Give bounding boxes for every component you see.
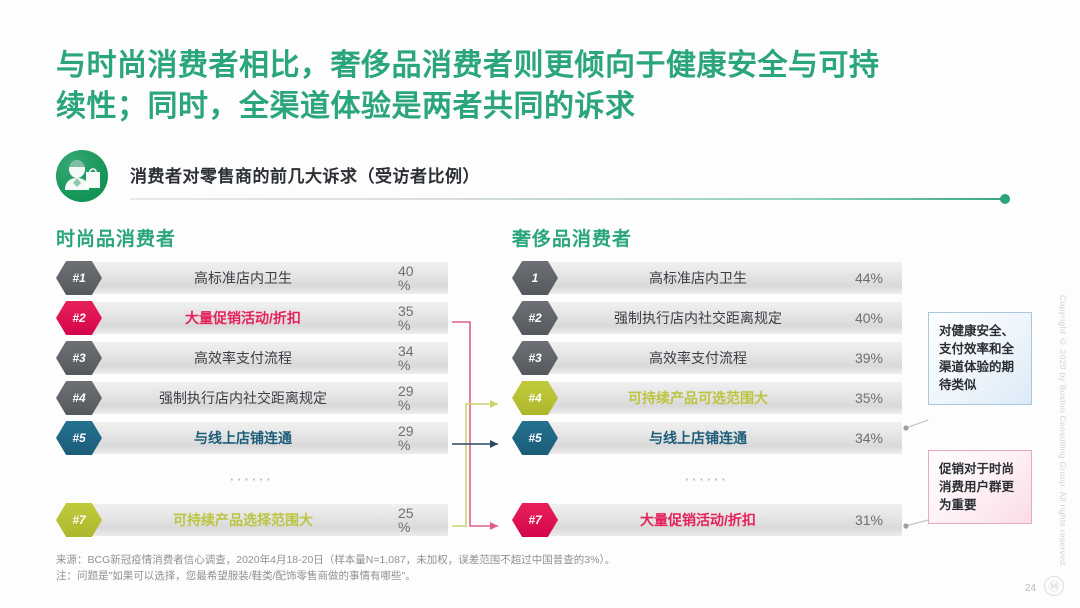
item-label: 与线上店铺连通 xyxy=(102,422,384,454)
column-heading-luxury: 奢侈品消费者 xyxy=(512,224,632,251)
item-label: 高标准店内卫生 xyxy=(102,262,384,294)
item-value: 35 % xyxy=(386,302,444,334)
list-item[interactable]: #7 大量促销活动/折扣 31% xyxy=(512,504,902,536)
item-label: 可持续产品可选范围大 xyxy=(558,382,838,414)
spacer xyxy=(56,496,448,504)
value-unit: % xyxy=(398,278,410,292)
ellipsis: ······ xyxy=(56,462,448,496)
rank-label: #4 xyxy=(512,381,558,415)
item-value: 40 % xyxy=(386,262,444,294)
ellipsis: ······ xyxy=(512,462,902,496)
list-item[interactable]: #2 大量促销活动/折扣 35 % xyxy=(56,302,448,334)
fashion-consumer-list: #1 高标准店内卫生 40 % #2 大量促销活动/折扣 35 % #3 高效率… xyxy=(56,262,448,544)
item-label: 大量促销活动/折扣 xyxy=(558,504,838,536)
rank-label: #7 xyxy=(56,503,102,537)
item-value: 35% xyxy=(840,382,898,414)
page-number: 24 xyxy=(1025,583,1036,594)
subtitle-divider xyxy=(130,198,1002,200)
rank-label: #4 xyxy=(56,381,102,415)
list-item[interactable]: #7 可持续产品选择范围大 25 % xyxy=(56,504,448,536)
footnotes: 来源：BCG新冠疫情消费者信心调查，2020年4月18-20日（样本量N=1,0… xyxy=(56,552,796,585)
value-unit: % xyxy=(398,318,410,332)
rank-label: #5 xyxy=(56,421,102,455)
list-item[interactable]: #4 强制执行店内社交距离规定 29 % xyxy=(56,382,448,414)
item-value: 34% xyxy=(840,422,898,454)
promotion-importance-callout: 促销对于时尚消费用户群更为重要 xyxy=(928,450,1032,524)
column-heading-fashion: 时尚品消费者 xyxy=(56,224,176,251)
item-label: 与线上店铺连通 xyxy=(558,422,838,454)
value-number: 34 xyxy=(398,344,414,358)
value-number: 29 xyxy=(398,384,414,398)
page-title-line-1: 与时尚消费者相比，奢侈品消费者则更倾向于健康安全与可持 xyxy=(56,49,880,82)
value-unit: % xyxy=(398,520,410,534)
rank-badge: #4 xyxy=(512,381,558,415)
list-item[interactable]: #1 高标准店内卫生 40 % xyxy=(56,262,448,294)
list-item[interactable]: #2 强制执行店内社交距离规定 40% xyxy=(512,302,902,334)
list-item[interactable]: #5 与线上店铺连通 29 % xyxy=(56,422,448,454)
item-label: 大量促销活动/折扣 xyxy=(102,302,384,334)
rank-badge: #1 xyxy=(56,261,102,295)
rank-badge: #2 xyxy=(512,301,558,335)
value-number: 25 xyxy=(398,506,414,520)
list-item[interactable]: #5 与线上店铺连通 34% xyxy=(512,422,902,454)
list-item[interactable]: #3 高效率支付流程 34 % xyxy=(56,342,448,374)
value-number: 40 xyxy=(398,264,414,278)
spacer xyxy=(512,496,902,504)
rank-label: #5 xyxy=(512,421,558,455)
rank-badge: #5 xyxy=(512,421,558,455)
footnote-note: 注：问题是"如果可以选择，您最希望服装/鞋类/配饰零售商做的事情有哪些"。 xyxy=(56,568,796,584)
item-value: 29 % xyxy=(386,422,444,454)
rank-badge: #7 xyxy=(56,503,102,537)
rank-badge: #3 xyxy=(512,341,558,375)
footnote-source: 来源：BCG新冠疫情消费者信心调查，2020年4月18-20日（样本量N=1,0… xyxy=(56,552,796,568)
rank-label: #3 xyxy=(512,341,558,375)
luxury-consumer-list: 1 高标准店内卫生 44% #2 强制执行店内社交距离规定 40% #3 高效率… xyxy=(512,262,902,544)
item-label: 强制执行店内社交距离规定 xyxy=(102,382,384,414)
item-label: 高效率支付流程 xyxy=(558,342,838,374)
item-value: 39% xyxy=(840,342,898,374)
value-number: 35 xyxy=(398,304,414,318)
rank-badge: #2 xyxy=(56,301,102,335)
item-label: 高效率支付流程 xyxy=(102,342,384,374)
item-label: 可持续产品选择范围大 xyxy=(102,504,384,536)
shopper-icon xyxy=(56,150,108,202)
value-unit: % xyxy=(398,438,410,452)
item-value: 25 % xyxy=(386,504,444,536)
rank-label: #2 xyxy=(56,301,102,335)
value-unit: % xyxy=(398,358,410,372)
rank-badge: #7 xyxy=(512,503,558,537)
subtitle-text: 消费者对零售商的前几大诉求（受访者比例） xyxy=(130,162,480,187)
similar-expectations-callout: 对健康安全、支付效率和全渠道体验的期待类似 xyxy=(928,312,1032,405)
page-title-line-2: 续性；同时，全渠道体验是两者共同的诉求 xyxy=(56,87,1056,128)
item-value: 34 % xyxy=(386,342,444,374)
list-item[interactable]: #4 可持续产品可选范围大 35% xyxy=(512,382,902,414)
value-number: 29 xyxy=(398,424,414,438)
rank-badge: 1 xyxy=(512,261,558,295)
item-label: 高标准店内卫生 xyxy=(558,262,838,294)
value-unit: % xyxy=(398,398,410,412)
rank-label: #2 xyxy=(512,301,558,335)
list-item[interactable]: 1 高标准店内卫生 44% xyxy=(512,262,902,294)
copyright-text: Copyright © 2020 by Boston Consulting Gr… xyxy=(1058,295,1068,568)
rank-label: #1 xyxy=(56,261,102,295)
rank-label: #7 xyxy=(512,503,558,537)
item-value: 29 % xyxy=(386,382,444,414)
item-value: 31% xyxy=(840,504,898,536)
rank-label: 1 xyxy=(512,261,558,295)
item-label: 强制执行店内社交距离规定 xyxy=(558,302,838,334)
rank-badge: #4 xyxy=(56,381,102,415)
item-value: 44% xyxy=(840,262,898,294)
bcg-logo: Ⓜ xyxy=(1044,576,1064,596)
rank-badge: #3 xyxy=(56,341,102,375)
subtitle-band: 消费者对零售商的前几大诉求（受访者比例） xyxy=(56,150,1046,208)
page-title: 与时尚消费者相比，奢侈品消费者则更倾向于健康安全与可持 续性；同时，全渠道体验是… xyxy=(56,46,1056,127)
rank-label: #3 xyxy=(56,341,102,375)
rank-badge: #5 xyxy=(56,421,102,455)
list-item[interactable]: #3 高效率支付流程 39% xyxy=(512,342,902,374)
subtitle-end-dot xyxy=(1000,194,1010,204)
item-value: 40% xyxy=(840,302,898,334)
